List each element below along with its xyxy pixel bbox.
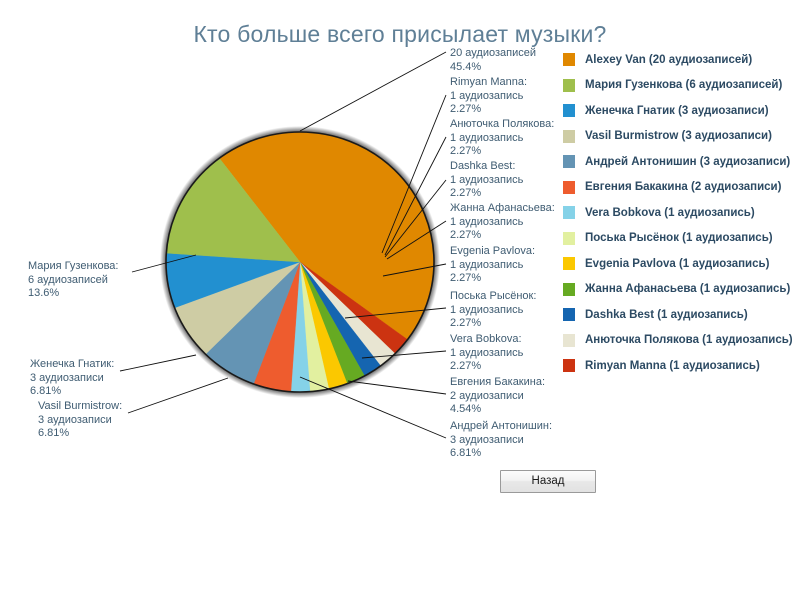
callout-percent: 2.27%	[450, 103, 527, 117]
callout-count: 3 аудиозаписи	[30, 372, 114, 386]
legend-item[interactable]: Vera Bobkova (1 аудиозапись)	[563, 200, 800, 226]
callout-count: 3 аудиозаписи	[38, 414, 122, 428]
callout-percent: 2.27%	[450, 317, 536, 331]
legend-color-swatch	[563, 53, 575, 66]
callout-name: Мария Гузенкова:	[28, 260, 118, 274]
callout-percent: 2.27%	[450, 272, 535, 286]
legend-item-label: Dashka Best (1 аудиозапись)	[585, 309, 748, 321]
legend-item[interactable]: Жанна Афанасьева (1 аудиозапись)	[563, 277, 800, 303]
legend-item[interactable]: Андрей Антонишин (3 аудиозаписи)	[563, 149, 800, 175]
legend-item[interactable]: Анюточка Полякова (1 аудиозапись)	[563, 328, 800, 354]
legend-color-swatch	[563, 130, 575, 143]
callout-name: Жанна Афанасьева:	[450, 202, 555, 216]
legend-item[interactable]: Alexey Van (20 аудиозаписей)	[563, 47, 800, 73]
callout-percent: 6.81%	[30, 385, 114, 399]
callout-name: Анюточка Полякова:	[450, 118, 554, 132]
legend-color-swatch	[563, 359, 575, 372]
callout-count: 3 аудиозаписи	[450, 434, 552, 448]
legend-item-label: Vasil Burmistrow (3 аудиозаписи)	[585, 130, 772, 142]
slice-callout: Dashka Best:1 аудиозапись2.27%	[450, 160, 523, 201]
slice-callout: Жанна Афанасьева:1 аудиозапись2.27%	[450, 202, 555, 243]
callout-name: Евгения Бакакина:	[450, 376, 545, 390]
leader-line	[128, 378, 228, 413]
legend-item[interactable]: Евгения Бакакина (2 аудиозаписи)	[563, 175, 800, 201]
callout-percent: 6.81%	[38, 427, 122, 441]
leader-line	[300, 377, 446, 438]
slice-callout: Андрей Антонишин:3 аудиозаписи6.81%	[450, 420, 552, 461]
legend-item-label: Евгения Бакакина (2 аудиозаписи)	[585, 181, 781, 193]
legend-item-label: Evgenia Pavlova (1 аудиозапись)	[585, 258, 769, 270]
callout-count: 1 аудиозапись	[450, 174, 523, 188]
callout-percent: 13.6%	[28, 287, 118, 301]
legend-item-label: Анюточка Полякова (1 аудиозапись)	[585, 334, 793, 346]
callout-count: 1 аудиозапись	[450, 132, 554, 146]
legend-item-label: Vera Bobkova (1 аудиозапись)	[585, 207, 755, 219]
legend-item[interactable]: Женечка Гнатик (3 аудиозаписи)	[563, 98, 800, 124]
legend-item[interactable]: Evgenia Pavlova (1 аудиозапись)	[563, 251, 800, 277]
legend: Alexey Van (20 аудиозаписей)Мария Гузенк…	[563, 47, 800, 379]
callout-name: Dashka Best:	[450, 160, 523, 174]
legend-color-swatch	[563, 334, 575, 347]
slice-callout: Евгения Бакакина:2 аудиозаписи4.54%	[450, 376, 545, 417]
callout-percent: 2.27%	[450, 145, 554, 159]
callout-count: 1 аудиозапись	[450, 347, 523, 361]
slice-callout: Rimyan Manna:1 аудиозапись2.27%	[450, 76, 527, 117]
legend-color-swatch	[563, 308, 575, 321]
callout-name: Rimyan Manna:	[450, 76, 527, 90]
slice-callout: Vasil Burmistrow:3 аудиозаписи6.81%	[38, 400, 122, 441]
legend-color-swatch	[563, 232, 575, 245]
callout-percent: 6.81%	[450, 447, 552, 461]
legend-color-swatch	[563, 104, 575, 117]
callout-count: 1 аудиозапись	[450, 90, 527, 104]
slice-callout: Evgenia Pavlova:1 аудиозапись2.27%	[450, 245, 535, 286]
legend-item[interactable]: Vasil Burmistrow (3 аудиозаписи)	[563, 124, 800, 150]
callout-count: 2 аудиозаписи	[450, 390, 545, 404]
legend-color-swatch	[563, 181, 575, 194]
back-button[interactable]: Назад	[500, 470, 596, 493]
callout-percent: 2.27%	[450, 229, 555, 243]
legend-item-label: Alexey Van (20 аудиозаписей)	[585, 54, 752, 66]
legend-item-label: Женечка Гнатик (3 аудиозаписи)	[585, 105, 769, 117]
legend-color-swatch	[563, 257, 575, 270]
legend-item[interactable]: Dashka Best (1 аудиозапись)	[563, 302, 800, 328]
callout-name: Vera Bobkova:	[450, 333, 523, 347]
legend-color-swatch	[563, 79, 575, 92]
legend-color-swatch	[563, 283, 575, 296]
slice-callout: 20 аудиозаписей45.4%	[450, 47, 536, 74]
callout-name: Женечка Гнатик:	[30, 358, 114, 372]
legend-item[interactable]: Поська Рысёнок (1 аудиозапись)	[563, 226, 800, 252]
callout-name: Андрей Антонишин:	[450, 420, 552, 434]
legend-color-swatch	[563, 206, 575, 219]
legend-item[interactable]: Мария Гузенкова (6 аудиозаписей)	[563, 73, 800, 99]
callout-name: Evgenia Pavlova:	[450, 245, 535, 259]
callout-count: 1 аудиозапись	[450, 216, 555, 230]
callout-name: Vasil Burmistrow:	[38, 400, 122, 414]
legend-item-label: Мария Гузенкова (6 аудиозаписей)	[585, 79, 782, 91]
leader-line	[120, 355, 196, 371]
callout-percent: 4.54%	[450, 403, 545, 417]
slice-callout: Анюточка Полякова:1 аудиозапись2.27%	[450, 118, 554, 159]
callout-count: 1 аудиозапись	[450, 304, 536, 318]
slice-callout: Поська Рысёнок:1 аудиозапись2.27%	[450, 290, 536, 331]
legend-item-label: Жанна Афанасьева (1 аудиозапись)	[585, 283, 790, 295]
callout-count: 20 аудиозаписей	[450, 47, 536, 61]
legend-color-swatch	[563, 155, 575, 168]
legend-item-label: Rimyan Manna (1 аудиозапись)	[585, 360, 760, 372]
callout-count: 6 аудиозаписей	[28, 274, 118, 288]
slice-callout: Vera Bobkova:1 аудиозапись2.27%	[450, 333, 523, 374]
legend-item-label: Поська Рысёнок (1 аудиозапись)	[585, 232, 773, 244]
legend-item[interactable]: Rimyan Manna (1 аудиозапись)	[563, 353, 800, 379]
pie-slice-group	[166, 132, 434, 392]
legend-item-label: Андрей Антонишин (3 аудиозаписи)	[585, 156, 790, 168]
callout-count: 1 аудиозапись	[450, 259, 535, 273]
callout-name: Поська Рысёнок:	[450, 290, 536, 304]
leader-line	[348, 381, 446, 394]
callout-percent: 45.4%	[450, 61, 536, 75]
slice-callout: Мария Гузенкова:6 аудиозаписей13.6%	[28, 260, 118, 301]
slice-callout: Женечка Гнатик:3 аудиозаписи6.81%	[30, 358, 114, 399]
leader-line	[300, 52, 446, 131]
callout-percent: 2.27%	[450, 360, 523, 374]
callout-percent: 2.27%	[450, 187, 523, 201]
